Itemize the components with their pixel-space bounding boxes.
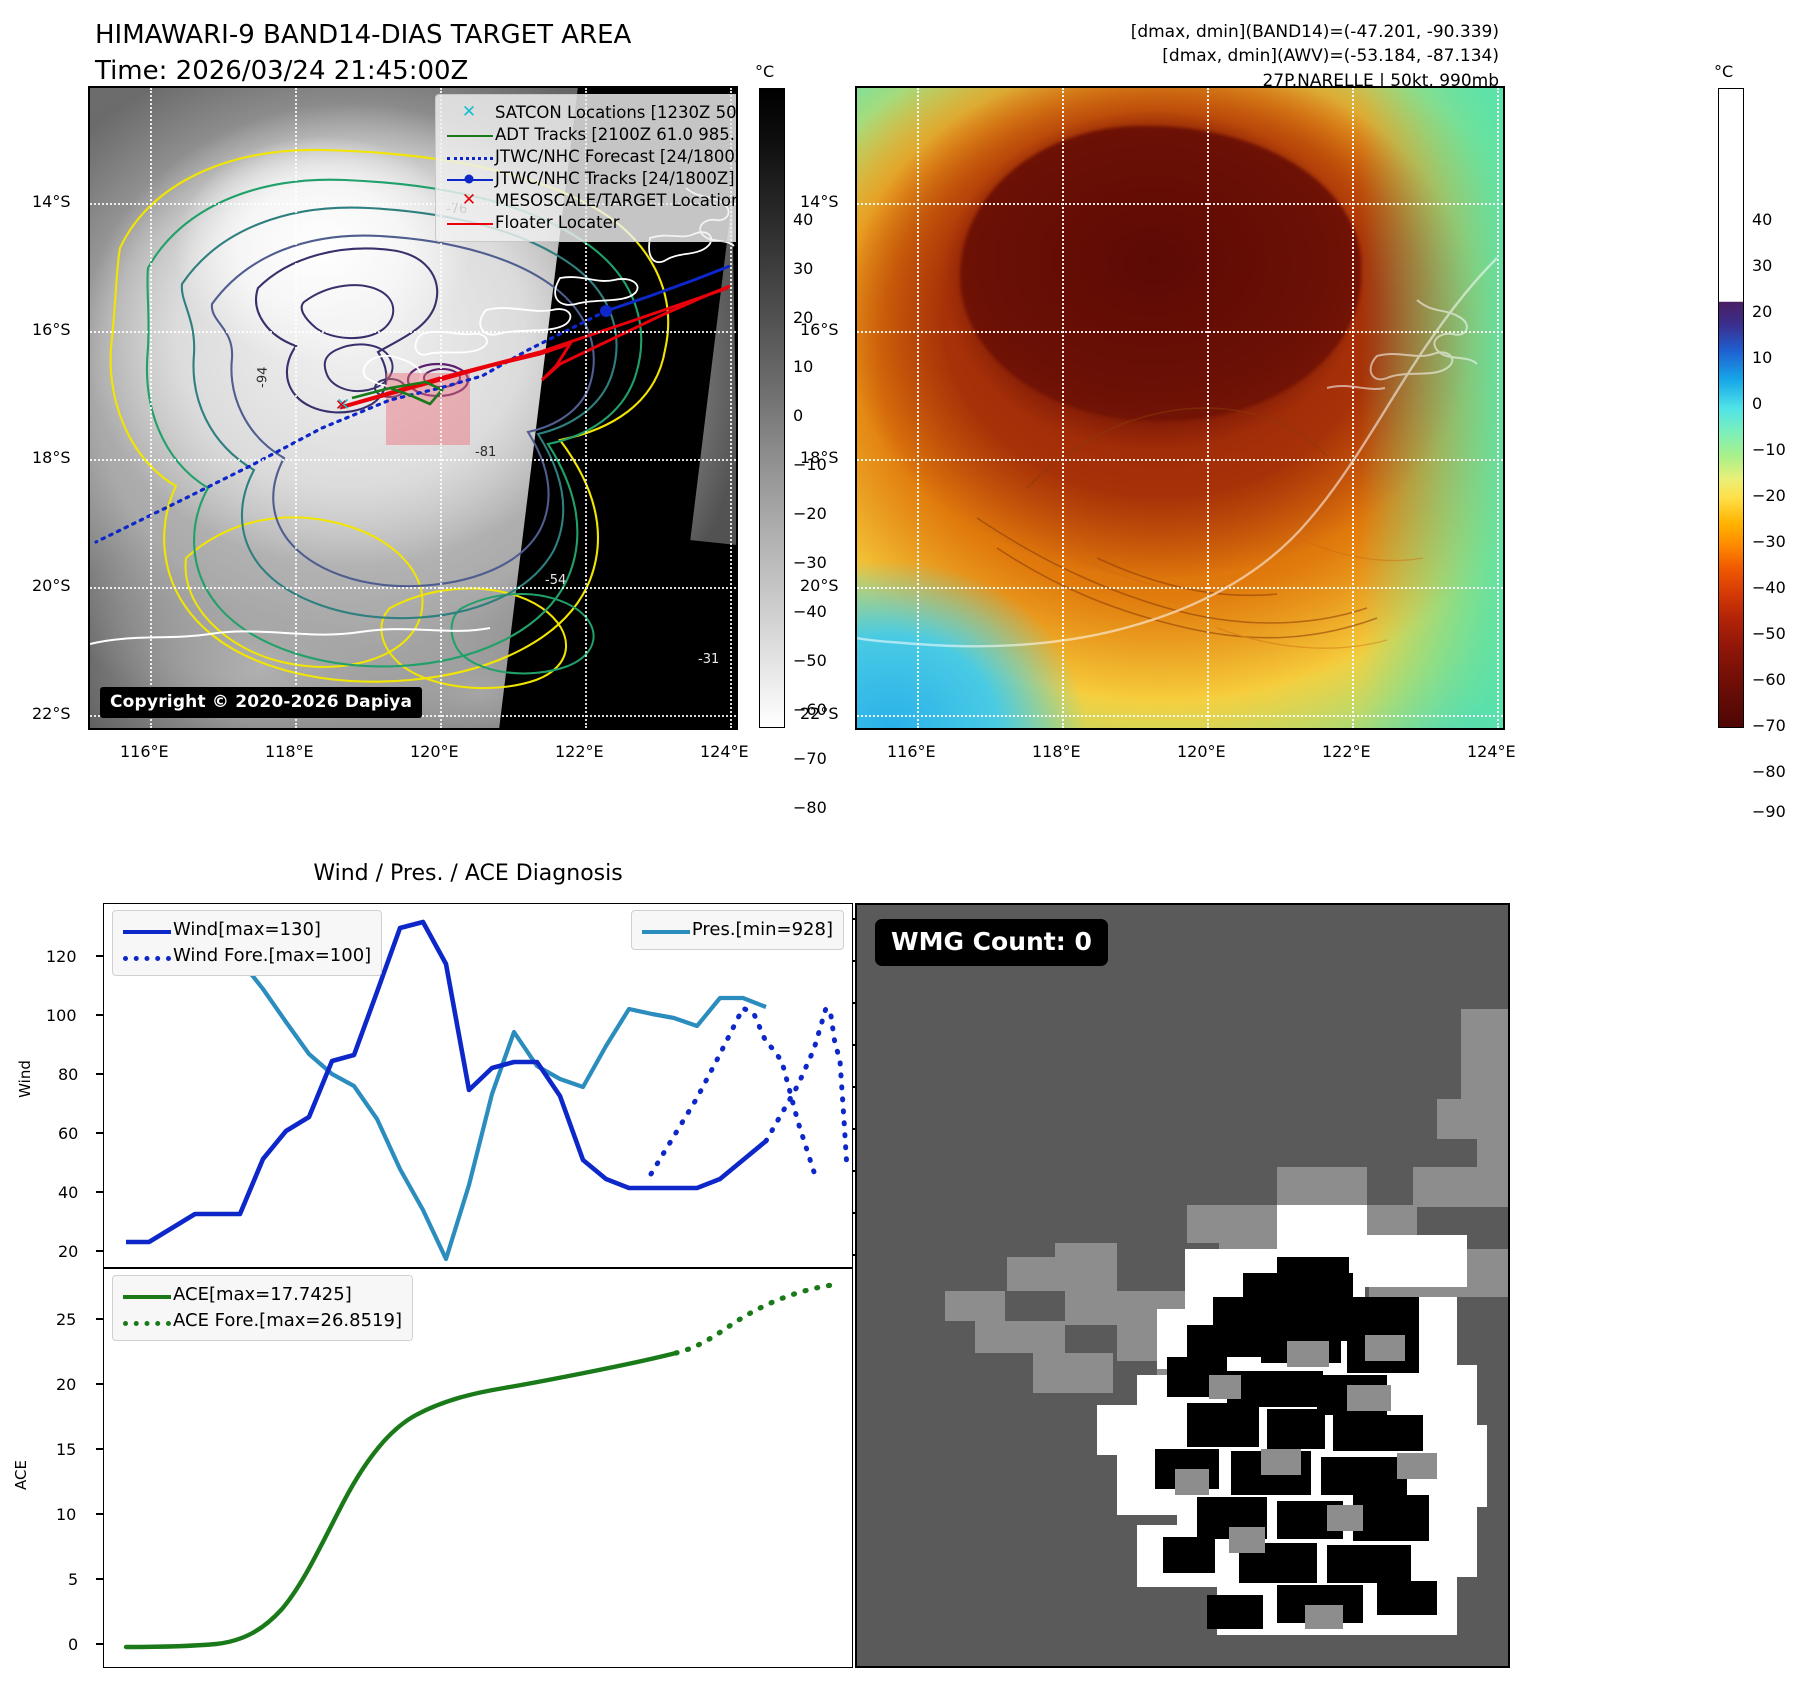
wind-tick-120: 120 [46, 947, 77, 966]
awv-cbar-tick-30: 30 [1752, 256, 1772, 275]
legend-label: ACE Fore.[max=26.8519] [173, 1312, 402, 1331]
scene-info-readout: [dmax, dmin](BAND14)=(-47.201, -90.339) … [1131, 20, 1499, 93]
grid-line-lon-118 [295, 88, 297, 728]
ir-cbar-tick-m20: −20 [793, 504, 827, 523]
lat-tick-20s: 20°S [32, 576, 71, 595]
legend-label: Pres.[min=928] [692, 921, 833, 940]
grid-line-lon-116 [917, 88, 919, 728]
diagnosis-title: Wind / Pres. / ACE Diagnosis [88, 861, 848, 886]
awv-cbar-tick-m50: −50 [1752, 624, 1786, 643]
wind-chart-legend[interactable]: Wind[max=130] Wind Fore.[max=100] [112, 910, 382, 976]
lon-tick-122e: 122°E [555, 742, 604, 761]
solid-line-icon [443, 212, 495, 234]
legend-label: MESOSCALE/TARGET Location [495, 193, 738, 210]
legend-item-mesoscale-target: ✕ MESOSCALE/TARGET Location [443, 190, 738, 212]
awv-cbar-tick-m80: −80 [1752, 762, 1786, 781]
solid-line-icon [119, 918, 173, 942]
awv-lat-tick-22s: 22°S [800, 704, 839, 723]
grid-line-lon-118 [1062, 88, 1064, 728]
lat-tick-18s: 18°S [32, 448, 71, 467]
ir-cbar-tick-m80: −80 [793, 798, 827, 817]
awv-lon-tick-124e: 124°E [1467, 742, 1516, 761]
legend-label: JTWC/NHC Tracks [24/1800Z] [495, 171, 735, 188]
awv-colorbar-unit: °C [1714, 62, 1733, 81]
grid-line-lat-20 [90, 587, 736, 589]
awv-cbar-tick-10: 10 [1752, 348, 1772, 367]
copyright-badge: Copyright © 2020-2026 Dapiya [100, 687, 422, 718]
legend-label: Floater Locater [495, 215, 620, 232]
grid-line-lat-20 [857, 587, 1503, 589]
awv-lon-tick-116e: 116°E [887, 742, 936, 761]
awv-cbar-tick-m30: −30 [1752, 532, 1786, 551]
wmg-count-badge: WMG Count: 0 [875, 919, 1108, 966]
grid-line-lat-18 [90, 459, 736, 461]
ace-tick-15: 15 [56, 1440, 76, 1459]
dotted-line-icon [119, 944, 173, 968]
awv-lon-tick-120e: 120°E [1177, 742, 1226, 761]
awv-lon-tick-118e: 118°E [1032, 742, 1081, 761]
legend-item-jtwc-tracks: JTWC/NHC Tracks [24/1800Z] [443, 168, 738, 190]
legend-item-wind: Wind[max=130] [119, 917, 371, 943]
ace-tick-0: 0 [68, 1635, 78, 1654]
legend-item-jtwc-forecast: JTWC/NHC Forecast [24/1800Z] [443, 146, 738, 168]
ir-cbar-tick-0: 0 [793, 406, 803, 425]
legend-item-pressure: Pres.[min=928] [638, 917, 833, 943]
ir-colorbar-unit: °C [755, 62, 774, 81]
wind-tick-40: 40 [58, 1183, 78, 1202]
lat-tick-16s: 16°S [32, 320, 71, 339]
ir-cbar-tick-30: 30 [793, 259, 813, 278]
svg-text:✕: ✕ [335, 396, 348, 414]
ir-colorbar-gradient [759, 88, 785, 728]
grid-line-lat-18 [857, 459, 1503, 461]
grid-line-lat-16 [90, 331, 736, 333]
grid-line-lon-116 [150, 88, 152, 728]
solid-line-icon [638, 918, 692, 942]
wind-tick-60: 60 [58, 1124, 78, 1143]
grid-line-lon-122 [1352, 88, 1354, 728]
wind-axis-title: Wind [16, 1060, 34, 1098]
wind-tick-80: 80 [58, 1065, 78, 1084]
ir-cbar-tick-m40: −40 [793, 602, 827, 621]
lon-tick-120e: 120°E [410, 742, 459, 761]
wmg-mask-image [857, 905, 1508, 1666]
legend-item-satcon-locations: ✕ SATCON Locations [1230Z 50 990] [443, 102, 738, 124]
x-marker-icon: ✕ [443, 102, 495, 124]
line-with-dot-icon [443, 168, 495, 190]
legend-label: JTWC/NHC Forecast [24/1800Z] [495, 149, 738, 166]
awv-cbar-tick-m70: −70 [1752, 716, 1786, 735]
grid-line-lon-124 [1497, 88, 1499, 728]
ace-tick-5: 5 [68, 1570, 78, 1589]
pressure-chart-legend[interactable]: Pres.[min=928] [631, 910, 844, 950]
legend-label: ACE[max=17.7425] [173, 1286, 352, 1305]
awv-imagery [857, 88, 1503, 728]
awv-cbar-tick-m10: −10 [1752, 440, 1786, 459]
ir-cbar-tick-40: 40 [793, 210, 813, 229]
ace-chart-legend[interactable]: ACE[max=17.7425] ACE Fore.[max=26.8519] [112, 1275, 413, 1341]
legend-item-ace-forecast: ACE Fore.[max=26.8519] [119, 1308, 402, 1334]
solid-line-icon [443, 124, 495, 146]
wind-tick-100: 100 [46, 1006, 77, 1025]
awv-map-panel[interactable] [855, 86, 1505, 730]
awv-cbar-tick-0: 0 [1752, 394, 1762, 413]
x-marker-icon: ✕ [443, 190, 495, 212]
awv-cloud-texture [857, 88, 1503, 728]
awv-lat-tick-20s: 20°S [800, 576, 839, 595]
awv-lat-tick-14s: 14°S [800, 192, 839, 211]
legend-item-ace: ACE[max=17.7425] [119, 1282, 402, 1308]
grid-line-lat-22 [857, 715, 1503, 717]
legend-item-wind-forecast: Wind Fore.[max=100] [119, 943, 371, 969]
awv-cbar-tick-m60: −60 [1752, 670, 1786, 689]
awv-cbar-tick-20: 20 [1752, 302, 1772, 321]
wind-tick-20: 20 [58, 1242, 78, 1261]
ace-tick-20: 20 [56, 1375, 76, 1394]
legend-label: ADT Tracks [2100Z 61.0 985.8] [495, 127, 738, 144]
ace-chart[interactable]: ACE[max=17.7425] ACE Fore.[max=26.8519] [103, 1268, 853, 1668]
ir-cbar-tick-10: 10 [793, 357, 813, 376]
page-title: HIMAWARI-9 BAND14-DIAS TARGET AREA Time:… [95, 18, 631, 90]
legend-label: Wind[max=130] [173, 921, 321, 940]
grid-line-lon-120 [1207, 88, 1209, 728]
ace-tick-25: 25 [56, 1310, 76, 1329]
legend-item-adt-tracks: ADT Tracks [2100Z 61.0 985.8] [443, 124, 738, 146]
awv-cbar-tick-m20: −20 [1752, 486, 1786, 505]
solid-line-icon [119, 1283, 173, 1307]
lon-tick-124e: 124°E [700, 742, 749, 761]
lon-tick-118e: 118°E [265, 742, 314, 761]
awv-lon-tick-122e: 122°E [1322, 742, 1371, 761]
ir-cbar-tick-m50: −50 [793, 651, 827, 670]
ace-tick-10: 10 [56, 1505, 76, 1524]
grid-line-lat-14 [857, 203, 1503, 205]
awv-cbar-tick-40: 40 [1752, 210, 1772, 229]
awv-cbar-tick-m40: −40 [1752, 578, 1786, 597]
awv-lat-tick-18s: 18°S [800, 448, 839, 467]
awv-colorbar-gradient [1718, 88, 1744, 728]
lat-tick-14s: 14°S [32, 192, 71, 211]
awv-cbar-tick-m90: −90 [1752, 802, 1786, 821]
lon-tick-116e: 116°E [120, 742, 169, 761]
dotted-line-icon [443, 146, 495, 168]
legend-label: SATCON Locations [1230Z 50 990] [495, 105, 738, 122]
ir-cbar-tick-m30: −30 [793, 553, 827, 572]
wmg-mask-panel[interactable]: WMG Count: 0 [855, 903, 1510, 1668]
ir-cbar-tick-m70: −70 [793, 749, 827, 768]
ace-axis-title: ACE [12, 1460, 30, 1490]
awv-lat-tick-16s: 16°S [800, 320, 839, 339]
dotted-line-icon [119, 1309, 173, 1333]
legend-item-floater-locater: Floater Locater [443, 212, 738, 234]
band14-ir-map-panel[interactable]: -76 -94 -81 -54 -31 [88, 86, 738, 730]
legend-label: Wind Fore.[max=100] [173, 947, 371, 966]
grid-line-lat-16 [857, 331, 1503, 333]
wind-pressure-chart[interactable]: Wind[max=130] Wind Fore.[max=100] Pres.[… [103, 903, 853, 1268]
lat-tick-22s: 22°S [32, 704, 71, 723]
ir-map-legend[interactable]: ✕ SATCON Locations [1230Z 50 990] ADT Tr… [435, 94, 738, 242]
